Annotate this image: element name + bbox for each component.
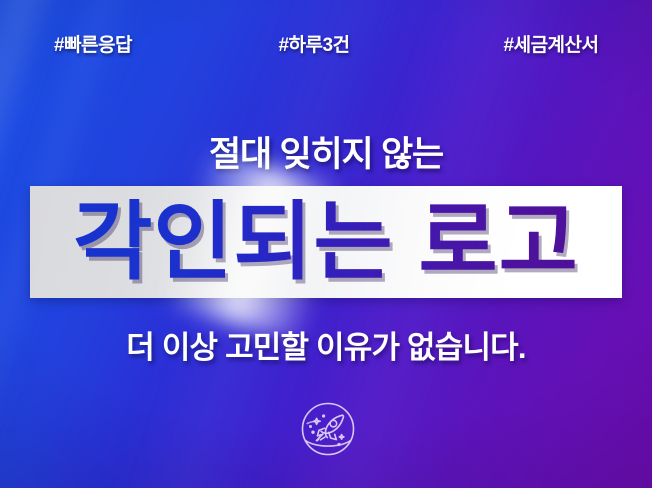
headline-wrapper: 각인되는 로고 각인되는 로고 bbox=[30, 186, 622, 298]
page-title: 각인되는 로고 bbox=[73, 199, 579, 285]
rocket-in-circle-icon bbox=[295, 396, 361, 462]
eyebrow-text: 절대 잊히지 않는 bbox=[0, 126, 652, 177]
hashtag-fast-response: #빠른응답 bbox=[54, 30, 132, 57]
hashtag-three-per-day: #하루3건 bbox=[278, 30, 349, 57]
subheadline-text: 더 이상 고민할 이유가 없습니다. bbox=[0, 322, 652, 367]
promo-banner: #빠른응답 #하루3건 #세금계산서 절대 잊히지 않는 각인되는 로고 각인되… bbox=[0, 0, 652, 488]
hashtag-row: #빠른응답 #하루3건 #세금계산서 bbox=[0, 30, 652, 60]
hashtag-tax-invoice: #세금계산서 bbox=[504, 30, 599, 57]
headline-band: 각인되는 로고 각인되는 로고 bbox=[30, 186, 622, 298]
